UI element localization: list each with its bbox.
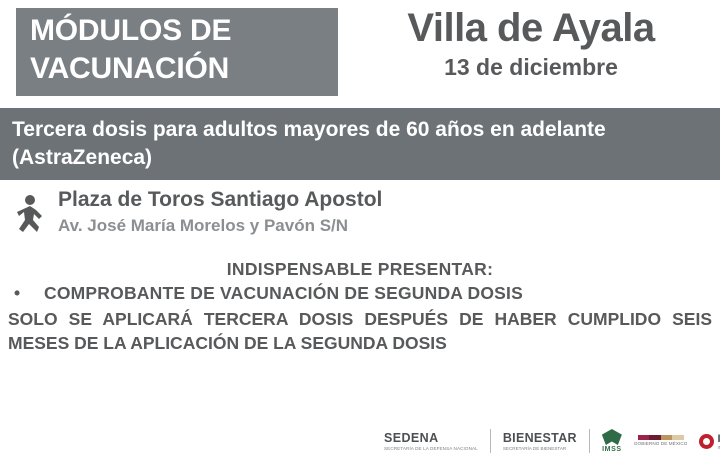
venue-block: Plaza de Toros Santiago Apostol Av. José… (0, 188, 720, 254)
logo-sedena-name: SEDENA (384, 431, 439, 445)
logo-gobierno-de-mexico: GOBIERNO DE MÉXICO (628, 422, 694, 460)
notes-bullet-text: COMPROBANTE DE VACUNACIÓN DE SEGUNDA DOS… (44, 283, 523, 303)
modules-badge-line2: VACUNACIÓN (30, 50, 330, 88)
logo-bienestar: BIENESTAR SECRETARÍA DE BIENESTAR (497, 422, 583, 460)
footer-divider-2 (589, 429, 590, 453)
logo-imss: IMSS (596, 422, 628, 460)
venue-address: Av. José María Morelos y Pavón S/N (58, 216, 348, 236)
poster-header: MÓDULOS DE VACUNACIÓN Villa de Ayala 13 … (0, 0, 720, 108)
logo-gob-name: GOBIERNO DE MÉXICO (634, 442, 688, 447)
logo-bienestar-sub: SECRETARÍA DE BIENESTAR (503, 446, 577, 451)
footer-logo-bar: SEDENA SECRETARÍA DE LA DEFENSA NACIONAL… (0, 418, 720, 463)
logo-sedena-sub: SECRETARÍA DE LA DEFENSA NACIONAL (384, 446, 478, 451)
imss-eagle-icon (602, 429, 622, 445)
logo-issste: ISSSTE INSTITUTO DE SEGURIDAD Y SERVICIO… (693, 422, 720, 460)
gob-flag-icon (638, 435, 684, 440)
bullet-marker: • (14, 282, 44, 306)
logo-imss-name: IMSS (602, 446, 622, 453)
modules-badge-line1: MÓDULOS DE (30, 12, 330, 50)
subtitle-text: Tercera dosis para adultos mayores de 60… (12, 116, 702, 173)
header-right-block: Villa de Ayala 13 de diciembre (352, 6, 710, 82)
poster-canvas: MÓDULOS DE VACUNACIÓN Villa de Ayala 13 … (0, 0, 720, 463)
venue-name: Plaza de Toros Santiago Apostol (58, 188, 382, 212)
city-title: Villa de Ayala (352, 6, 710, 50)
modules-badge-text: MÓDULOS DE VACUNACIÓN (30, 12, 330, 89)
walking-person-icon (14, 194, 48, 236)
logo-bienestar-name: BIENESTAR (503, 431, 577, 445)
notes-block: INDISPENSABLE PRESENTAR: •COMPROBANTE DE… (0, 258, 720, 356)
modules-badge: MÓDULOS DE VACUNACIÓN (16, 8, 338, 96)
notes-heading: INDISPENSABLE PRESENTAR: (0, 258, 720, 282)
notes-paragraph: SOLO SE APLICARÁ TERCERA DOSIS DESPUÉS D… (0, 307, 720, 355)
logo-sedena: SEDENA SECRETARÍA DE LA DEFENSA NACIONAL (378, 422, 484, 460)
subtitle-band: Tercera dosis para adultos mayores de 60… (0, 108, 720, 180)
issste-mark-icon (699, 434, 714, 449)
footer-logos: SEDENA SECRETARÍA DE LA DEFENSA NACIONAL… (378, 422, 720, 460)
date-title: 13 de diciembre (352, 54, 710, 82)
notes-bullet-row: •COMPROBANTE DE VACUNACIÓN DE SEGUNDA DO… (0, 282, 720, 306)
footer-divider-1 (490, 429, 491, 453)
